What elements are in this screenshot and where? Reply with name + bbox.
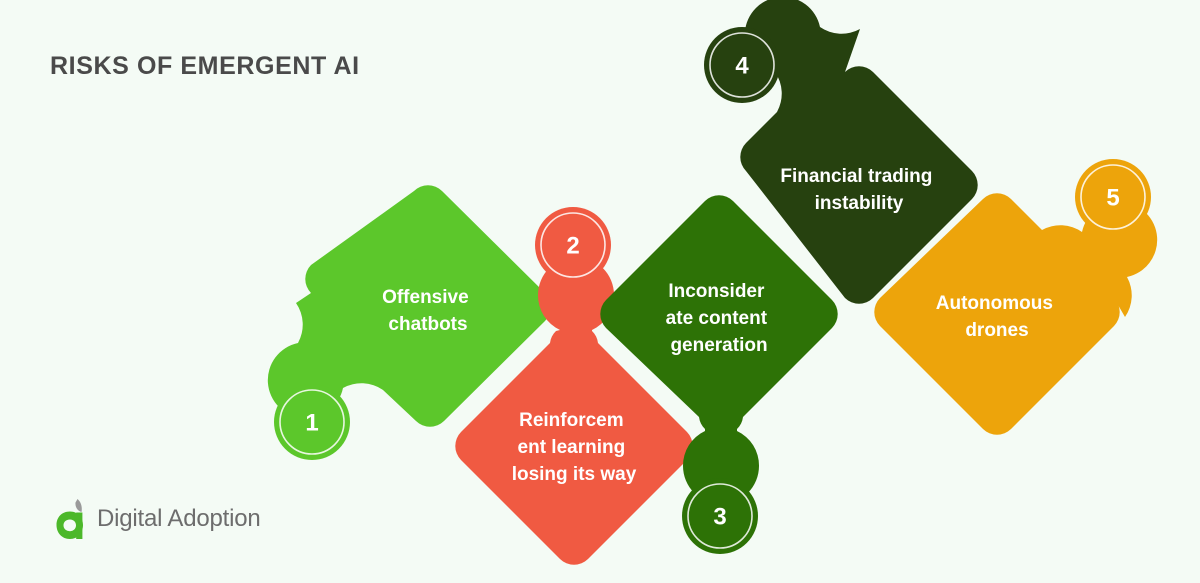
badge-2-number: 2 (566, 233, 579, 260)
piece-3-label-line-2: ate content (666, 308, 768, 329)
badge-4-number: 4 (735, 53, 749, 80)
piece-2-label-line-1: Reinforcem (519, 410, 624, 431)
piece-2-label: Reinforcem ent learning losing its way (512, 410, 637, 485)
badge-1-number: 1 (305, 410, 318, 437)
piece-3-label: Inconsider ate content generation (666, 281, 773, 356)
piece-1-label-line-1: Offensive (382, 287, 469, 308)
piece-3-badge[interactable]: 3 (682, 478, 758, 554)
piece-4-badge[interactable]: 4 (704, 27, 780, 103)
infographic-canvas: RISKS OF EMERGENT AI Offensive chatbots … (0, 0, 1200, 583)
badge-3-number: 3 (713, 504, 726, 531)
puzzle-diagram: Offensive chatbots 1 Reinforcem ent lear… (0, 0, 1200, 583)
badge-5-number: 5 (1106, 185, 1119, 212)
piece-2-label-line-2: ent learning (518, 437, 626, 458)
piece-2-badge[interactable]: 2 (535, 207, 611, 283)
piece-3-label-line-3: generation (670, 335, 767, 356)
brand-logo[interactable]: Digital Adoption (50, 497, 261, 541)
digital-adoption-logo-icon (50, 497, 90, 541)
piece-4-label-line-1: Financial trading (780, 166, 932, 187)
piece-1-badge[interactable]: 1 (274, 384, 350, 460)
logo-text: Digital Adoption (97, 505, 261, 533)
piece-5-label-line-2: drones (965, 320, 1028, 341)
piece-5-badge[interactable]: 5 (1075, 159, 1151, 235)
piece-1-label-line-2: chatbots (388, 314, 467, 335)
piece-5-label-line-1: Autonomous (936, 293, 1053, 314)
piece-3-label-line-1: Inconsider (668, 281, 765, 302)
piece-2-label-line-3: losing its way (512, 464, 637, 485)
piece-4-label-line-2: instability (815, 193, 904, 214)
